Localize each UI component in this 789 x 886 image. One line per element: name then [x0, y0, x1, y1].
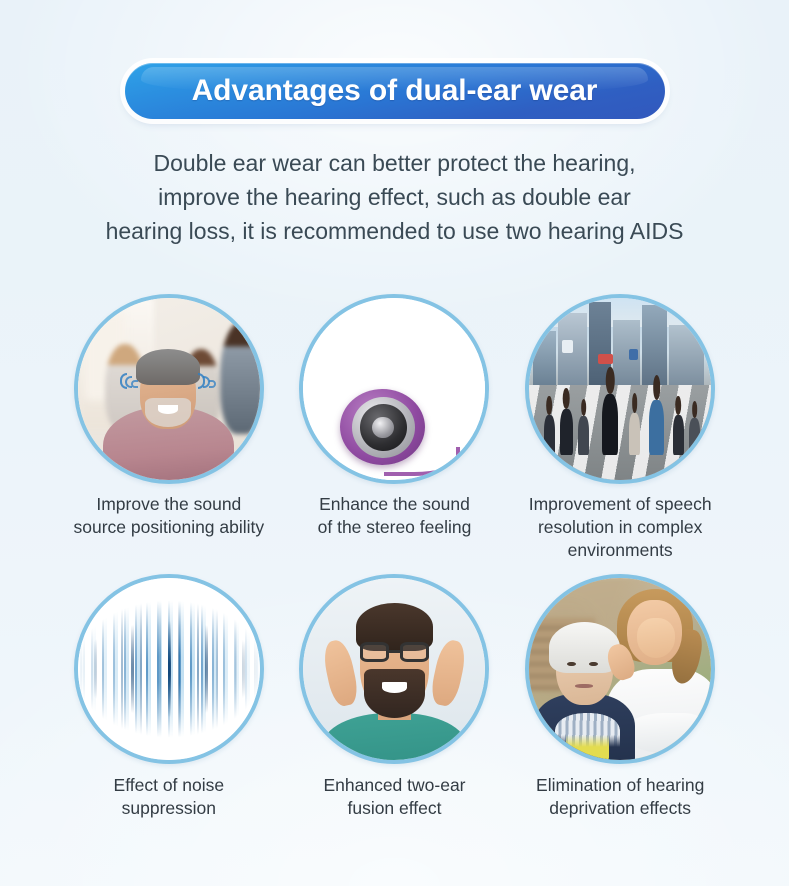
- subtitle-line-2: improve the hearing effect, such as doub…: [18, 180, 771, 214]
- caption-line: Enhanced two-ear: [323, 774, 465, 797]
- caption-line: Improve the sound: [73, 493, 264, 516]
- benefit-caption-6: Elimination of hearing deprivation effec…: [536, 774, 704, 820]
- benefit-image-circle-6: [525, 574, 715, 764]
- page-subtitle: Double ear wear can better protect the h…: [0, 146, 789, 248]
- title-banner: Advantages of dual-ear wear: [0, 63, 789, 119]
- city-crosswalk-crowd-photo: [529, 298, 711, 480]
- caption-line: Improvement of speech: [529, 493, 712, 516]
- benefit-caption-3: Improvement of speech resolution in comp…: [529, 493, 712, 562]
- title-pill: Advantages of dual-ear wear: [125, 63, 665, 119]
- caption-line: fusion effect: [323, 797, 465, 820]
- blue-audio-waveform-graphic: [78, 578, 260, 760]
- man-with-sound-waves-photo: [78, 298, 260, 480]
- eyeglasses-icon: [360, 642, 429, 662]
- caption-line: suppression: [114, 797, 225, 820]
- benefit-image-circle-1: [74, 294, 264, 484]
- subtitle-line-3: hearing loss, it is recommended to use t…: [18, 214, 771, 248]
- subtitle-line-1: Double ear wear can better protect the h…: [18, 146, 771, 180]
- benefit-item-two-ear-fusion: Enhanced two-ear fusion effect: [282, 574, 508, 820]
- caption-line: of the stereo feeling: [318, 516, 472, 539]
- caption-line: source positioning ability: [73, 516, 264, 539]
- caption-line: Enhance the sound: [318, 493, 472, 516]
- caregiver-with-elderly-woman-photo: [529, 578, 711, 760]
- benefit-caption-1: Improve the sound source positioning abi…: [73, 493, 264, 539]
- benefit-image-circle-2: [299, 294, 489, 484]
- benefit-item-noise-suppression: Effect of noise suppression: [56, 574, 282, 820]
- benefit-image-circle-4: [74, 574, 264, 764]
- benefit-caption-4: Effect of noise suppression: [114, 774, 225, 820]
- caption-line: deprivation effects: [536, 797, 704, 820]
- caption-line: Elimination of hearing: [536, 774, 704, 797]
- man-cupping-ears-photo: [303, 578, 485, 760]
- caption-line: resolution in complex: [529, 516, 712, 539]
- benefit-image-circle-5: [299, 574, 489, 764]
- benefit-item-stereo-feeling: Enhance the sound of the stereo feeling: [282, 294, 508, 562]
- benefits-grid: Improve the sound source positioning abi…: [0, 294, 789, 820]
- benefit-caption-2: Enhance the sound of the stereo feeling: [318, 493, 472, 539]
- benefit-item-speech-resolution: Improvement of speech resolution in comp…: [507, 294, 733, 562]
- benefit-item-sound-source-positioning: Improve the sound source positioning abi…: [56, 294, 282, 562]
- benefit-image-circle-3: [525, 294, 715, 484]
- equalizer-speaker-graphic: [303, 298, 485, 480]
- benefit-item-hearing-deprivation: Elimination of hearing deprivation effec…: [507, 574, 733, 820]
- benefit-caption-5: Enhanced two-ear fusion effect: [323, 774, 465, 820]
- caption-line: Effect of noise: [114, 774, 225, 797]
- caption-line: environments: [529, 539, 712, 562]
- page-title: Advantages of dual-ear wear: [192, 74, 598, 108]
